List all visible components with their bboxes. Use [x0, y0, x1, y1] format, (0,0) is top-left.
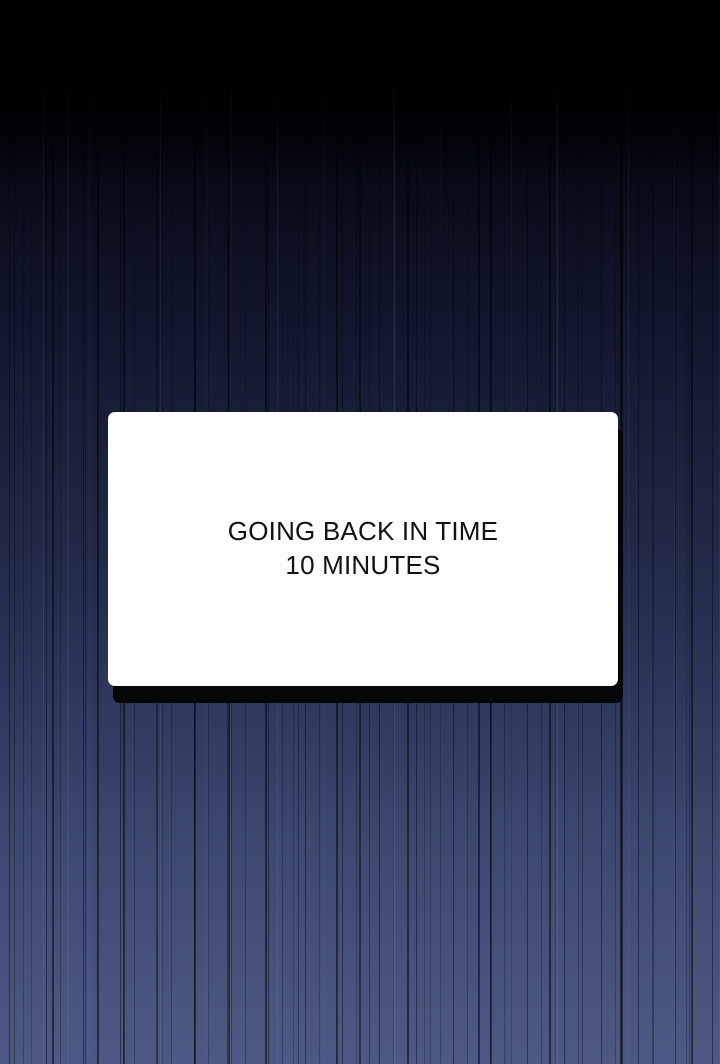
- caption-line-2: 10 MINUTES: [228, 549, 498, 583]
- caption-box: GOING BACK IN TIME 10 MINUTES: [108, 412, 618, 686]
- comic-panel: GOING BACK IN TIME 10 MINUTES: [0, 0, 720, 1064]
- caption-text-block: GOING BACK IN TIME 10 MINUTES: [228, 515, 498, 582]
- caption-line-1: GOING BACK IN TIME: [228, 515, 498, 549]
